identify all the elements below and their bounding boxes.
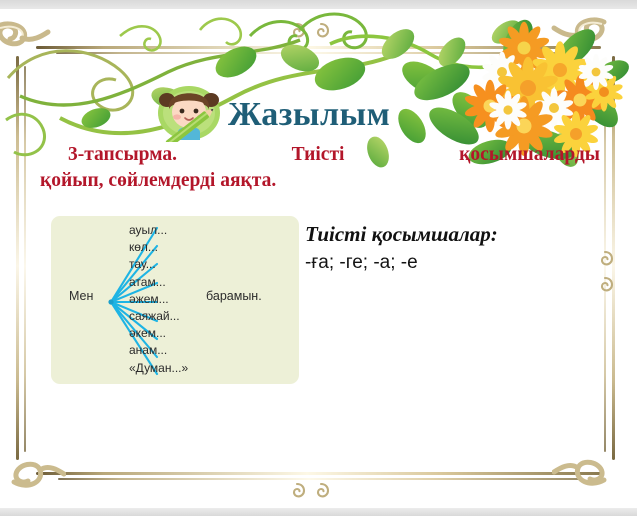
ribbon-icon-bottom-left	[8, 430, 66, 492]
list-item: анам...	[129, 342, 229, 359]
sentence-diagram-card: Мен ауыл... көл... тау...	[51, 216, 299, 384]
list-item: көл...	[129, 239, 229, 256]
list-item: ауыл...	[129, 222, 229, 239]
task-prompt-line1: 3-тапсырма. Тиісті қосымшаларды	[40, 142, 600, 168]
suffix-hint-values: -ға; -ге; -а; -е	[305, 252, 605, 274]
gold-spiral-icon	[596, 276, 614, 294]
list-item: «Думан...»	[129, 360, 229, 377]
ribbon-icon-bottom-right	[552, 428, 610, 490]
task-prompt-line2: қойып, сөйлемдерді аяқта.	[40, 168, 600, 194]
slide-canvas: Жазылым 3-тапсырма. Тиісті қосымшаларды …	[0, 0, 637, 516]
girl-with-pencil-icon	[156, 80, 222, 142]
diagram-verb-label: барамын.	[206, 289, 262, 303]
task-prompt: 3-тапсырма. Тиісті қосымшаларды қойып, с…	[40, 142, 600, 194]
frame-bottom-rule-inner	[58, 478, 580, 480]
diagram-subject-label: Мен	[69, 289, 93, 303]
spiral-ornament-top	[288, 22, 330, 40]
frame-left-rule	[16, 56, 19, 460]
list-item: әкем...	[129, 325, 229, 342]
list-item: тау...	[129, 256, 229, 273]
gold-spiral-icon	[288, 482, 306, 500]
ribbon-icon-top-left	[0, 18, 52, 80]
suffix-hint-panel: Тиісті қосымшалар: -ға; -ге; -а; -е	[305, 222, 605, 274]
gold-spiral-icon	[312, 482, 330, 500]
suffix-hint-title: Тиісті қосымшалар:	[305, 222, 605, 247]
list-item: саяжай...	[129, 308, 229, 325]
page-title: Жазылым	[228, 96, 390, 134]
slide-top-edge	[0, 0, 637, 9]
spiral-ornament-bottom	[288, 482, 330, 500]
frame-left-rule-inner	[24, 66, 26, 452]
gold-spiral-icon	[288, 22, 306, 40]
gold-spiral-icon	[312, 22, 330, 40]
frame-bottom-rule	[36, 472, 601, 475]
slide-bottom-edge	[0, 508, 637, 516]
